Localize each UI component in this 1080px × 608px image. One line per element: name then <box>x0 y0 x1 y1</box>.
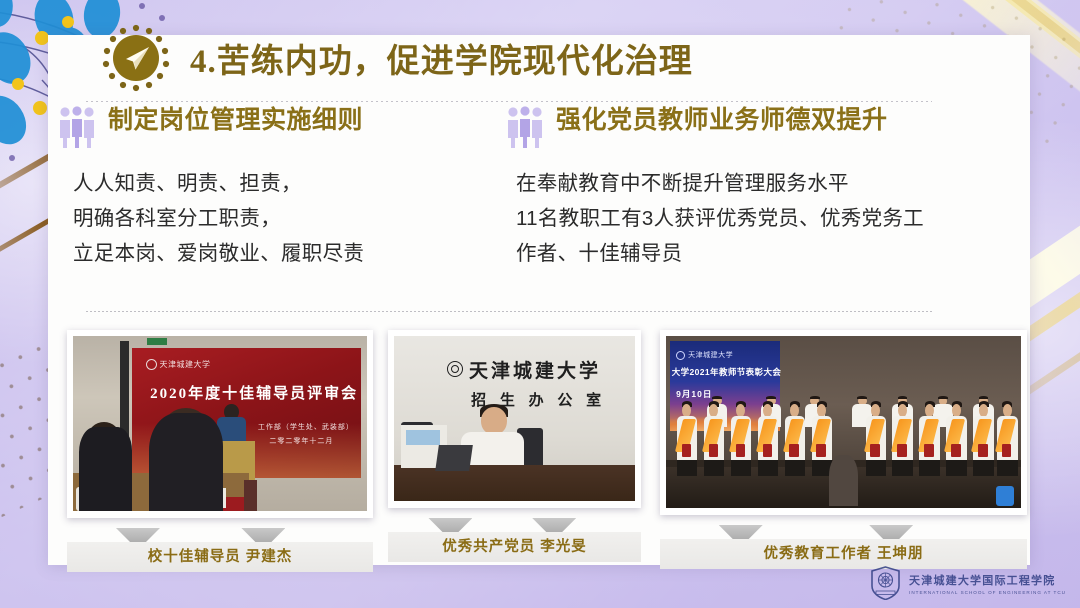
wall-university-logo: 天津城建大学 <box>447 356 601 383</box>
banner-sub-1: 工作部（学生处、武装部） <box>258 422 354 432</box>
caption-2-wrap: 优秀共产党员 李光旻 <box>388 518 641 562</box>
banner-university-logo: 天津城建大学 <box>146 359 211 370</box>
column-left-line-3: 立足本岗、爱岗敬业、履职尽责 <box>73 236 506 271</box>
column-right-line-2: 11名教职工有3人获评优秀党员、优秀党务工 <box>516 201 976 236</box>
column-left-heading-row: 制定岗位管理实施细则 <box>58 104 506 148</box>
photo-caption-1: 校十佳辅导员 尹建杰 <box>67 545 373 566</box>
three-people-icon <box>506 106 544 148</box>
university-crest-icon <box>870 566 901 600</box>
column-right-body: 在奉献教育中不断提升管理服务水平 11名教职工有3人获评优秀党员、优秀党务工 作… <box>516 166 976 271</box>
exit-sign <box>147 338 167 345</box>
photo-block-2: 天津城建大学 招 生 办 公 室 优秀共产党 <box>388 330 641 562</box>
section-divider <box>86 311 932 312</box>
awardees-row <box>677 382 1014 461</box>
slide-canvas: 4.苦练内功，促进学院现代化治理 制定岗位管理实施细则 人人知责、明责、担责， … <box>0 0 1080 608</box>
caption-1-wrap: 校十佳辅导员 尹建杰 <box>67 528 373 572</box>
wall-university-name: 天津城建大学 <box>469 356 601 383</box>
photo-caption-2: 优秀共产党员 李光旻 <box>388 535 641 556</box>
column-left-body: 人人知责、明责、担责， 明确各科室分工职责， 立足本岗、爱岗敬业、履职尽责 <box>73 166 506 271</box>
banner-university-name: 天津城建大学 <box>160 359 211 370</box>
two-column-section: 制定岗位管理实施细则 人人知责、明责、担责， 明确各科室分工职责， 立足本岗、爱… <box>58 104 978 271</box>
footer-logo-name-cn: 天津城建大学国际工程学院 <box>909 572 1066 588</box>
column-right-line-3: 作者、十佳辅导员 <box>516 236 976 271</box>
column-right: 强化党员教师业务师德双提升 在奉献教育中不断提升管理服务水平 11名教职工有3人… <box>506 104 976 271</box>
university-seal-icon <box>447 361 463 377</box>
column-right-heading-row: 强化党员教师业务师德双提升 <box>506 104 976 148</box>
photo-frame-3: 天津城建大学 大学2021年教师节表彰大会 9月10日 <box>660 330 1027 515</box>
column-right-line-1: 在奉献教育中不断提升管理服务水平 <box>516 166 976 201</box>
column-left: 制定岗位管理实施细则 人人知责、明责、担责， 明确各科室分工职责， 立足本岗、爱… <box>58 104 506 271</box>
banner-sub-2: 二零二零年十二月 <box>269 436 333 446</box>
column-right-heading: 强化党员教师业务师德双提升 <box>556 104 888 136</box>
photo-teachers-day-award-ceremony: 天津城建大学 大学2021年教师节表彰大会 9月10日 <box>666 336 1021 508</box>
paper-plane-icon <box>100 22 172 94</box>
photo-block-1: 天津城建大学 2020年度十佳辅导员评审会 工作部（学生处、武装部） 二零二零年… <box>67 330 373 572</box>
column-left-line-2: 明确各科室分工职责， <box>73 201 506 236</box>
camera-light <box>996 486 1014 507</box>
three-people-icon <box>58 106 96 148</box>
footer-logo-name-en: INTERNATIONAL SCHOOL OF ENGINEERING AT T… <box>909 590 1066 595</box>
photo-frame-1: 天津城建大学 2020年度十佳辅导员评审会 工作部（学生处、武装部） 二零二零年… <box>67 330 373 518</box>
column-left-heading: 制定岗位管理实施细则 <box>108 104 363 136</box>
screen-university-logo: 天津城建大学 <box>676 350 733 360</box>
footer-logo: 天津城建大学国际工程学院 INTERNATIONAL SCHOOL OF ENG… <box>870 566 1066 600</box>
column-left-line-1: 人人知责、明责、担责， <box>73 166 506 201</box>
page-title: 4.苦练内功，促进学院现代化治理 <box>190 34 693 82</box>
photo-caption-3: 优秀教育工作者 王坤朋 <box>660 542 1027 563</box>
banner-headline: 2020年度十佳辅导员评审会 <box>150 382 347 403</box>
photo-ten-best-counselor-review-meeting: 天津城建大学 2020年度十佳辅导员评审会 工作部（学生处、武装部） 二零二零年… <box>73 336 367 511</box>
screen-university-name: 天津城建大学 <box>688 350 733 360</box>
photo-block-3: 天津城建大学 大学2021年教师节表彰大会 9月10日 <box>660 330 1027 569</box>
photo-admissions-office-interview: 天津城建大学 招 生 办 公 室 <box>394 336 635 501</box>
caption-3-wrap: 优秀教育工作者 王坤朋 <box>660 525 1027 569</box>
university-seal-icon <box>146 359 157 370</box>
university-seal-icon <box>676 351 685 360</box>
title-divider <box>86 101 932 102</box>
title-row: 4.苦练内功，促进学院现代化治理 <box>100 22 693 94</box>
photo-frame-2: 天津城建大学 招 生 办 公 室 <box>388 330 641 508</box>
photo-row: 天津城建大学 2020年度十佳辅导员评审会 工作部（学生处、武装部） 二零二零年… <box>58 330 1030 565</box>
screen-title: 大学2021年教师节表彰大会 <box>672 366 782 378</box>
